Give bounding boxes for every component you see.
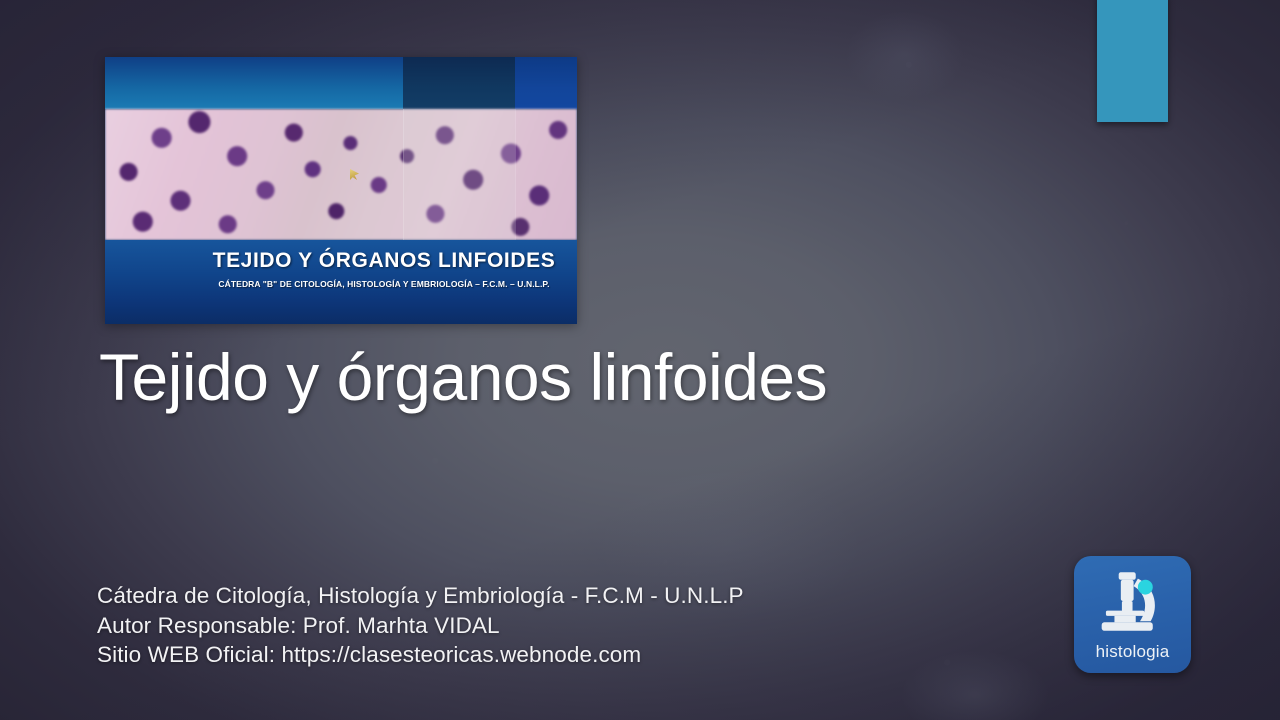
accent-bar — [1097, 0, 1168, 122]
histologia-logo: histologia — [1074, 556, 1191, 673]
image-band-left — [105, 57, 403, 109]
eyepiece-lens-icon — [1138, 580, 1153, 595]
credits-line-department: Cátedra de Citología, Histología y Embri… — [97, 581, 744, 611]
image-caption-title: TEJIDO Y ÓRGANOS LINFOIDES — [105, 249, 577, 273]
microscope-icon — [1074, 568, 1180, 634]
image-caption-plate: TEJIDO Y ÓRGANOS LINFOIDES CÁTEDRA "B" D… — [105, 240, 577, 324]
micrograph-panel-overlay — [403, 109, 515, 240]
presentation-slide: TEJIDO Y ÓRGANOS LINFOIDES CÁTEDRA "B" D… — [0, 0, 1280, 720]
micrograph-seam-right — [515, 109, 516, 240]
slide-image: TEJIDO Y ÓRGANOS LINFOIDES CÁTEDRA "B" D… — [105, 57, 577, 324]
histologia-logo-label: histologia — [1074, 642, 1191, 662]
image-band-right — [515, 57, 577, 109]
slide-credits: Cátedra de Citología, Histología y Embri… — [97, 581, 744, 670]
credits-line-website: Sitio WEB Oficial: https://clasesteorica… — [97, 640, 744, 670]
micrograph-seam-left — [403, 109, 404, 240]
credits-line-author: Autor Responsable: Prof. Marhta VIDAL — [97, 611, 744, 641]
image-band-middle — [403, 57, 515, 109]
image-caption-subtitle: CÁTEDRA "B" DE CITOLOGÍA, HISTOLOGÍA Y E… — [105, 279, 577, 289]
page-title: Tejido y órganos linfoides — [99, 339, 827, 415]
